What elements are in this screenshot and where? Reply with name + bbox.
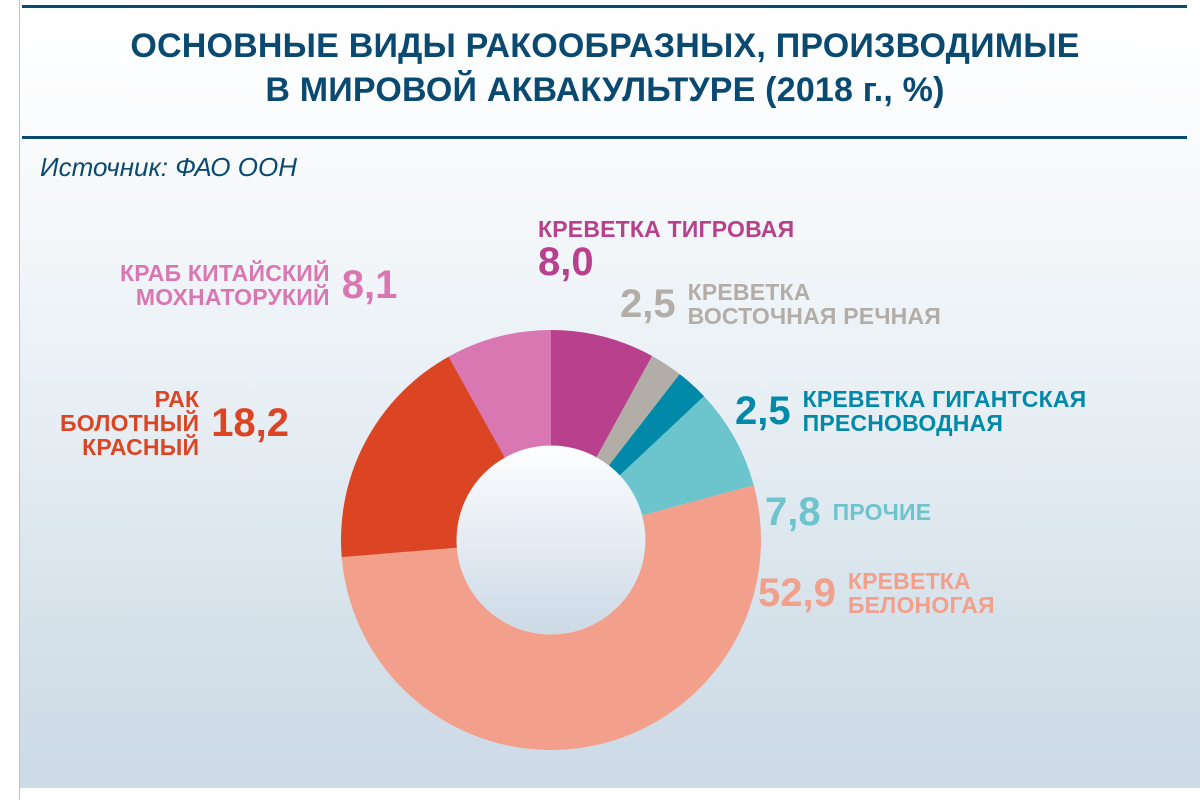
- label-giant-river-prawn-value: 2,5: [735, 391, 791, 433]
- label-oriental-river-prawn-name-1: КРЕВЕТКА: [688, 281, 941, 305]
- label-giant-tiger-prawn-name-1: КРЕВЕТКА ТИГРОВАЯ: [538, 218, 794, 242]
- label-chinese-mitten-crab-value: 8,1: [342, 265, 398, 307]
- label-chinese-mitten-crab: КРАБ КИТАЙСКИЙ МОХНАТОРУКИЙ 8,1: [120, 262, 397, 310]
- label-red-swamp-crayfish-name-2: БОЛОТНЫЙ: [60, 412, 199, 436]
- label-giant-tiger-prawn: КРЕВЕТКА ТИГРОВАЯ 8,0: [538, 218, 794, 284]
- label-giant-river-prawn-name-2: ПРЕСНОВОДНАЯ: [803, 412, 1087, 436]
- title-divider-rule: [22, 136, 1187, 139]
- donut-chart: [341, 330, 761, 750]
- credit-strip: ИНФОГРАФИКА «ВиЖ» / КСЕНИЯ ТИМАКОВА / ЕВ…: [0, 0, 20, 800]
- label-chinese-mitten-crab-name-2: МОХНАТОРУКИЙ: [120, 286, 330, 310]
- source-note: Источник: ФАО ООН: [40, 152, 297, 183]
- page-title-line-1: ОСНОВНЫЕ ВИДЫ РАКООБРАЗНЫХ, ПРОИЗВОДИМЫЕ: [40, 24, 1170, 68]
- label-other-name-1: ПРОЧИЕ: [833, 501, 932, 525]
- label-oriental-river-prawn: 2,5 КРЕВЕТКА ВОСТОЧНАЯ РЕЧНАЯ: [620, 281, 941, 329]
- label-red-swamp-crayfish-value: 18,2: [211, 403, 289, 445]
- label-giant-tiger-prawn-value: 8,0: [538, 242, 794, 284]
- infographic-page: ИНФОГРАФИКА «ВиЖ» / КСЕНИЯ ТИМАКОВА / ЕВ…: [0, 0, 1200, 800]
- label-giant-river-prawn: 2,5 КРЕВЕТКА ГИГАНТСКАЯ ПРЕСНОВОДНАЯ: [735, 388, 1086, 436]
- donut-chart-svg: [341, 330, 761, 750]
- page-title-line-2: В МИРОВОЙ АКВАКУЛЬТУРЕ (2018 г., %): [40, 68, 1170, 112]
- label-oriental-river-prawn-name-2: ВОСТОЧНАЯ РЕЧНАЯ: [688, 305, 941, 329]
- label-chinese-mitten-crab-name-1: КРАБ КИТАЙСКИЙ: [120, 262, 330, 286]
- label-other-value: 7,8: [765, 492, 821, 534]
- label-whiteleg-shrimp-name-2: БЕЛОНОГАЯ: [848, 594, 995, 618]
- page-title: ОСНОВНЫЕ ВИДЫ РАКООБРАЗНЫХ, ПРОИЗВОДИМЫЕ…: [40, 24, 1170, 112]
- label-oriental-river-prawn-value: 2,5: [620, 284, 676, 326]
- label-whiteleg-shrimp: 52,9 КРЕВЕТКА БЕЛОНОГАЯ: [758, 570, 995, 618]
- label-whiteleg-shrimp-name-1: КРЕВЕТКА: [848, 570, 995, 594]
- label-giant-river-prawn-name-1: КРЕВЕТКА ГИГАНТСКАЯ: [803, 388, 1087, 412]
- donut-center-hole: [457, 446, 645, 634]
- label-red-swamp-crayfish: РАК БОЛОТНЫЙ КРАСНЫЙ 18,2: [60, 388, 289, 460]
- label-red-swamp-crayfish-name-1: РАК: [60, 388, 199, 412]
- label-other: 7,8 ПРОЧИЕ: [765, 492, 931, 534]
- label-red-swamp-crayfish-name-3: КРАСНЫЙ: [60, 436, 199, 460]
- label-whiteleg-shrimp-value: 52,9: [758, 573, 836, 615]
- top-divider-rule: [22, 5, 1187, 8]
